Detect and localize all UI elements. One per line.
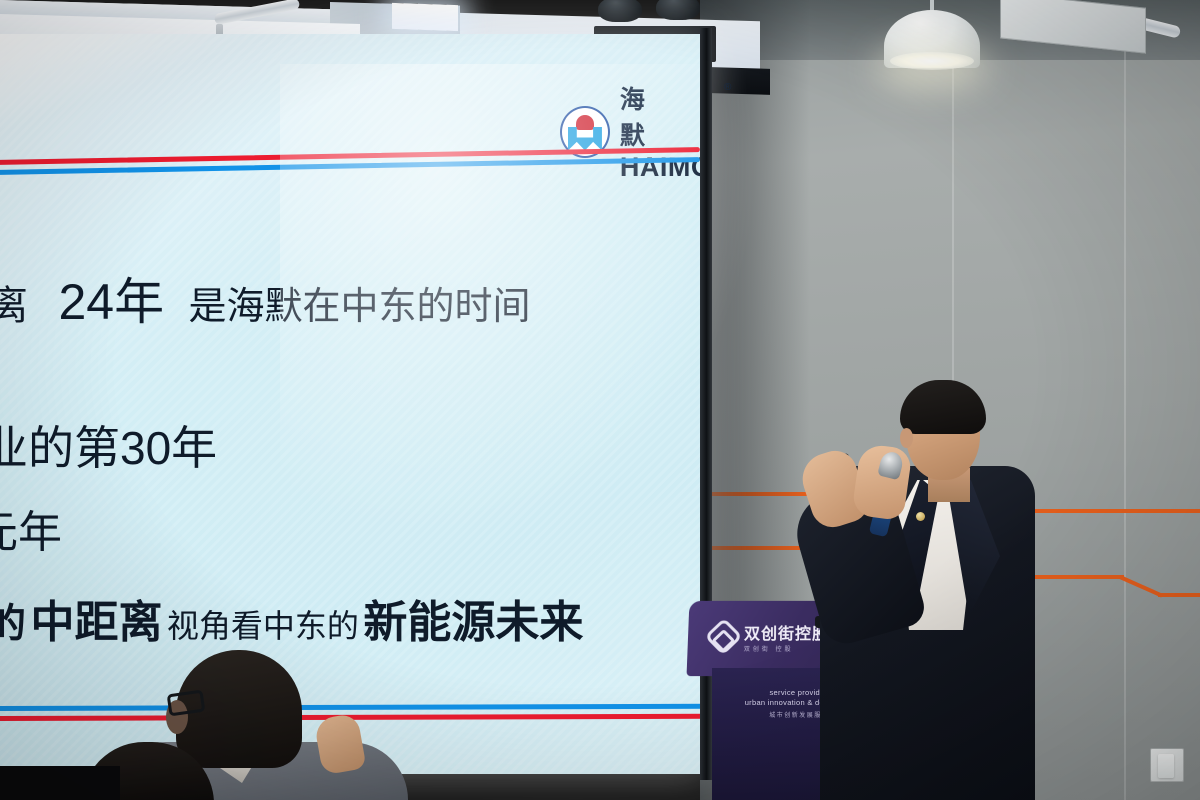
wall-seam-2 [1124,40,1126,800]
slide-line-1: 离 24年 是海默在中东的时间 [0,262,531,334]
slide-line-4-part1: 的 [0,602,26,646]
slide-line-2: 业的第30年 [0,412,217,478]
podium-logo-subtext: 双创街 控股 [744,644,829,653]
wall-orange-line-far-right [1158,593,1200,597]
ceiling-light-panel-icon [392,3,458,31]
slide-stripe-blue-bottom [0,704,710,711]
slide-line-4: 的 中距离 视角看中东的 新能源未来 [0,586,583,650]
registered-mark-icon: ® [724,82,731,93]
pendant-lamp-glow [890,52,974,70]
slide-line-3: 元年 [0,496,62,560]
slide-line-4-part4: 新能源未来 [363,598,583,647]
presenter-lapel-pin [916,512,925,521]
shuangchuangjie-logo-icon [704,618,742,656]
wall-light-switch-icon[interactable] [1150,748,1184,782]
wall-orange-line-upper-right [1030,509,1200,513]
presentation-scene: 海 默 HAIMO ® 离 24年 是海默在中东的时间 业的第30年 元年 的 … [0,0,1200,800]
slide-line-1-prefix: 离 [0,284,28,328]
ceiling-camera-icon [598,0,642,22]
projection-screen: 海 默 HAIMO ® 离 24年 是海默在中东的时间 业的第30年 元年 的 … [0,34,708,774]
slide-line-1-number: 24年 [58,274,164,330]
haimo-logo: 海 默 HAIMO ® [560,80,715,183]
slide-line-4-part2: 中距离 [30,598,162,647]
slide-line-4-part3: 视角看中东的 [167,608,359,644]
podium-logo: 双创街控股 双创街 控股 [710,620,830,653]
slide-line-1-text: 是海默在中东的时间 [189,286,531,328]
ceiling-camera-icon-2 [656,0,700,20]
audience-foreground-shadow [0,766,120,800]
presenter-ear [900,428,913,448]
